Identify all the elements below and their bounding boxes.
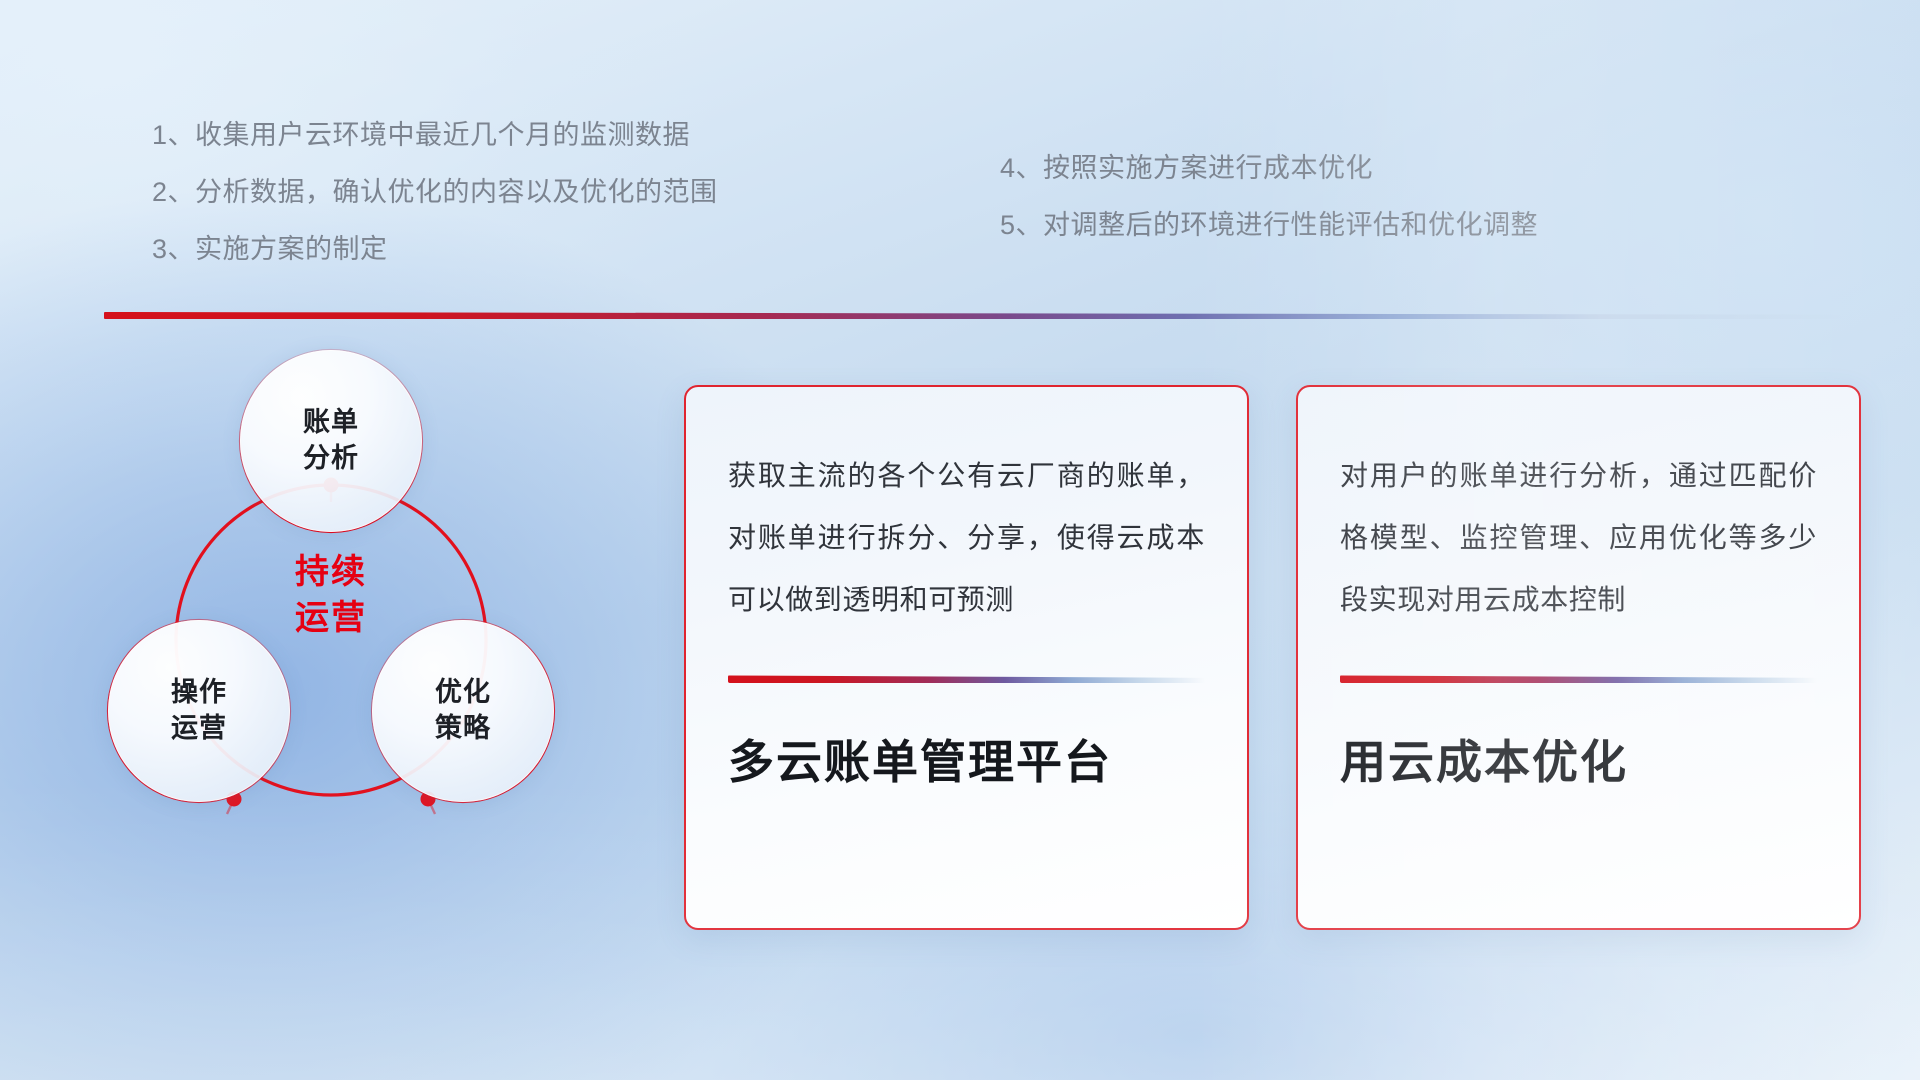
bubble-label-line1: 优化	[435, 675, 491, 711]
bubble-label-line2: 运营	[171, 711, 227, 747]
section-divider	[104, 312, 1844, 319]
card-title: 多云账单管理平台	[728, 735, 1205, 790]
step-item-5: 5、对调整后的环境进行性能评估和优化调整	[1000, 212, 1538, 239]
card-divider	[728, 675, 1205, 683]
card-cloud-cost-optimization[interactable]: 对用户的账单进行分析，通过匹配价格模型、监控管理、应用优化等多少段实现对用云成本…	[1296, 385, 1861, 930]
bubble-label-line1: 账单	[303, 405, 359, 441]
center-label-line1: 持续	[226, 550, 436, 596]
steps-left-column: 1、收集用户云环境中最近几个月的监测数据 2、分析数据，确认优化的内容以及优化的…	[152, 122, 718, 263]
step-item-4: 4、按照实施方案进行成本优化	[1000, 155, 1538, 182]
bubble-operation-ops[interactable]: 操作 运营	[108, 620, 290, 802]
step-item-1: 1、收集用户云环境中最近几个月的监测数据	[152, 122, 718, 149]
bubble-label-line2: 分析	[303, 441, 359, 477]
continuous-operation-diagram: 账单 分析 操作 运营 优化 策略 持续 运营	[90, 350, 630, 950]
card-multi-cloud-bill-platform[interactable]: 获取主流的各个公有云厂商的账单，对账单进行拆分、分享，使得云成本可以做到透明和可…	[684, 385, 1249, 930]
card-body-text: 获取主流的各个公有云厂商的账单，对账单进行拆分、分享，使得云成本可以做到透明和可…	[728, 445, 1205, 631]
bubble-label-line1: 操作	[171, 675, 227, 711]
step-item-2: 2、分析数据，确认优化的内容以及优化的范围	[152, 179, 718, 206]
diagram-center-label: 持续 运营	[226, 550, 436, 641]
bubble-label-line2: 策略	[435, 711, 491, 747]
card-title: 用云成本优化	[1340, 735, 1817, 790]
bubble-bill-analysis[interactable]: 账单 分析	[240, 350, 422, 532]
steps-right-column: 4、按照实施方案进行成本优化 5、对调整后的环境进行性能评估和优化调整	[1000, 155, 1538, 239]
slide-canvas: 1、收集用户云环境中最近几个月的监测数据 2、分析数据，确认优化的内容以及优化的…	[0, 0, 1920, 1080]
bubble-optimize-strategy[interactable]: 优化 策略	[372, 620, 554, 802]
card-body-text: 对用户的账单进行分析，通过匹配价格模型、监控管理、应用优化等多少段实现对用云成本…	[1340, 445, 1817, 631]
card-divider	[1340, 675, 1817, 683]
center-label-line2: 运营	[226, 596, 436, 642]
step-item-3: 3、实施方案的制定	[152, 236, 718, 263]
